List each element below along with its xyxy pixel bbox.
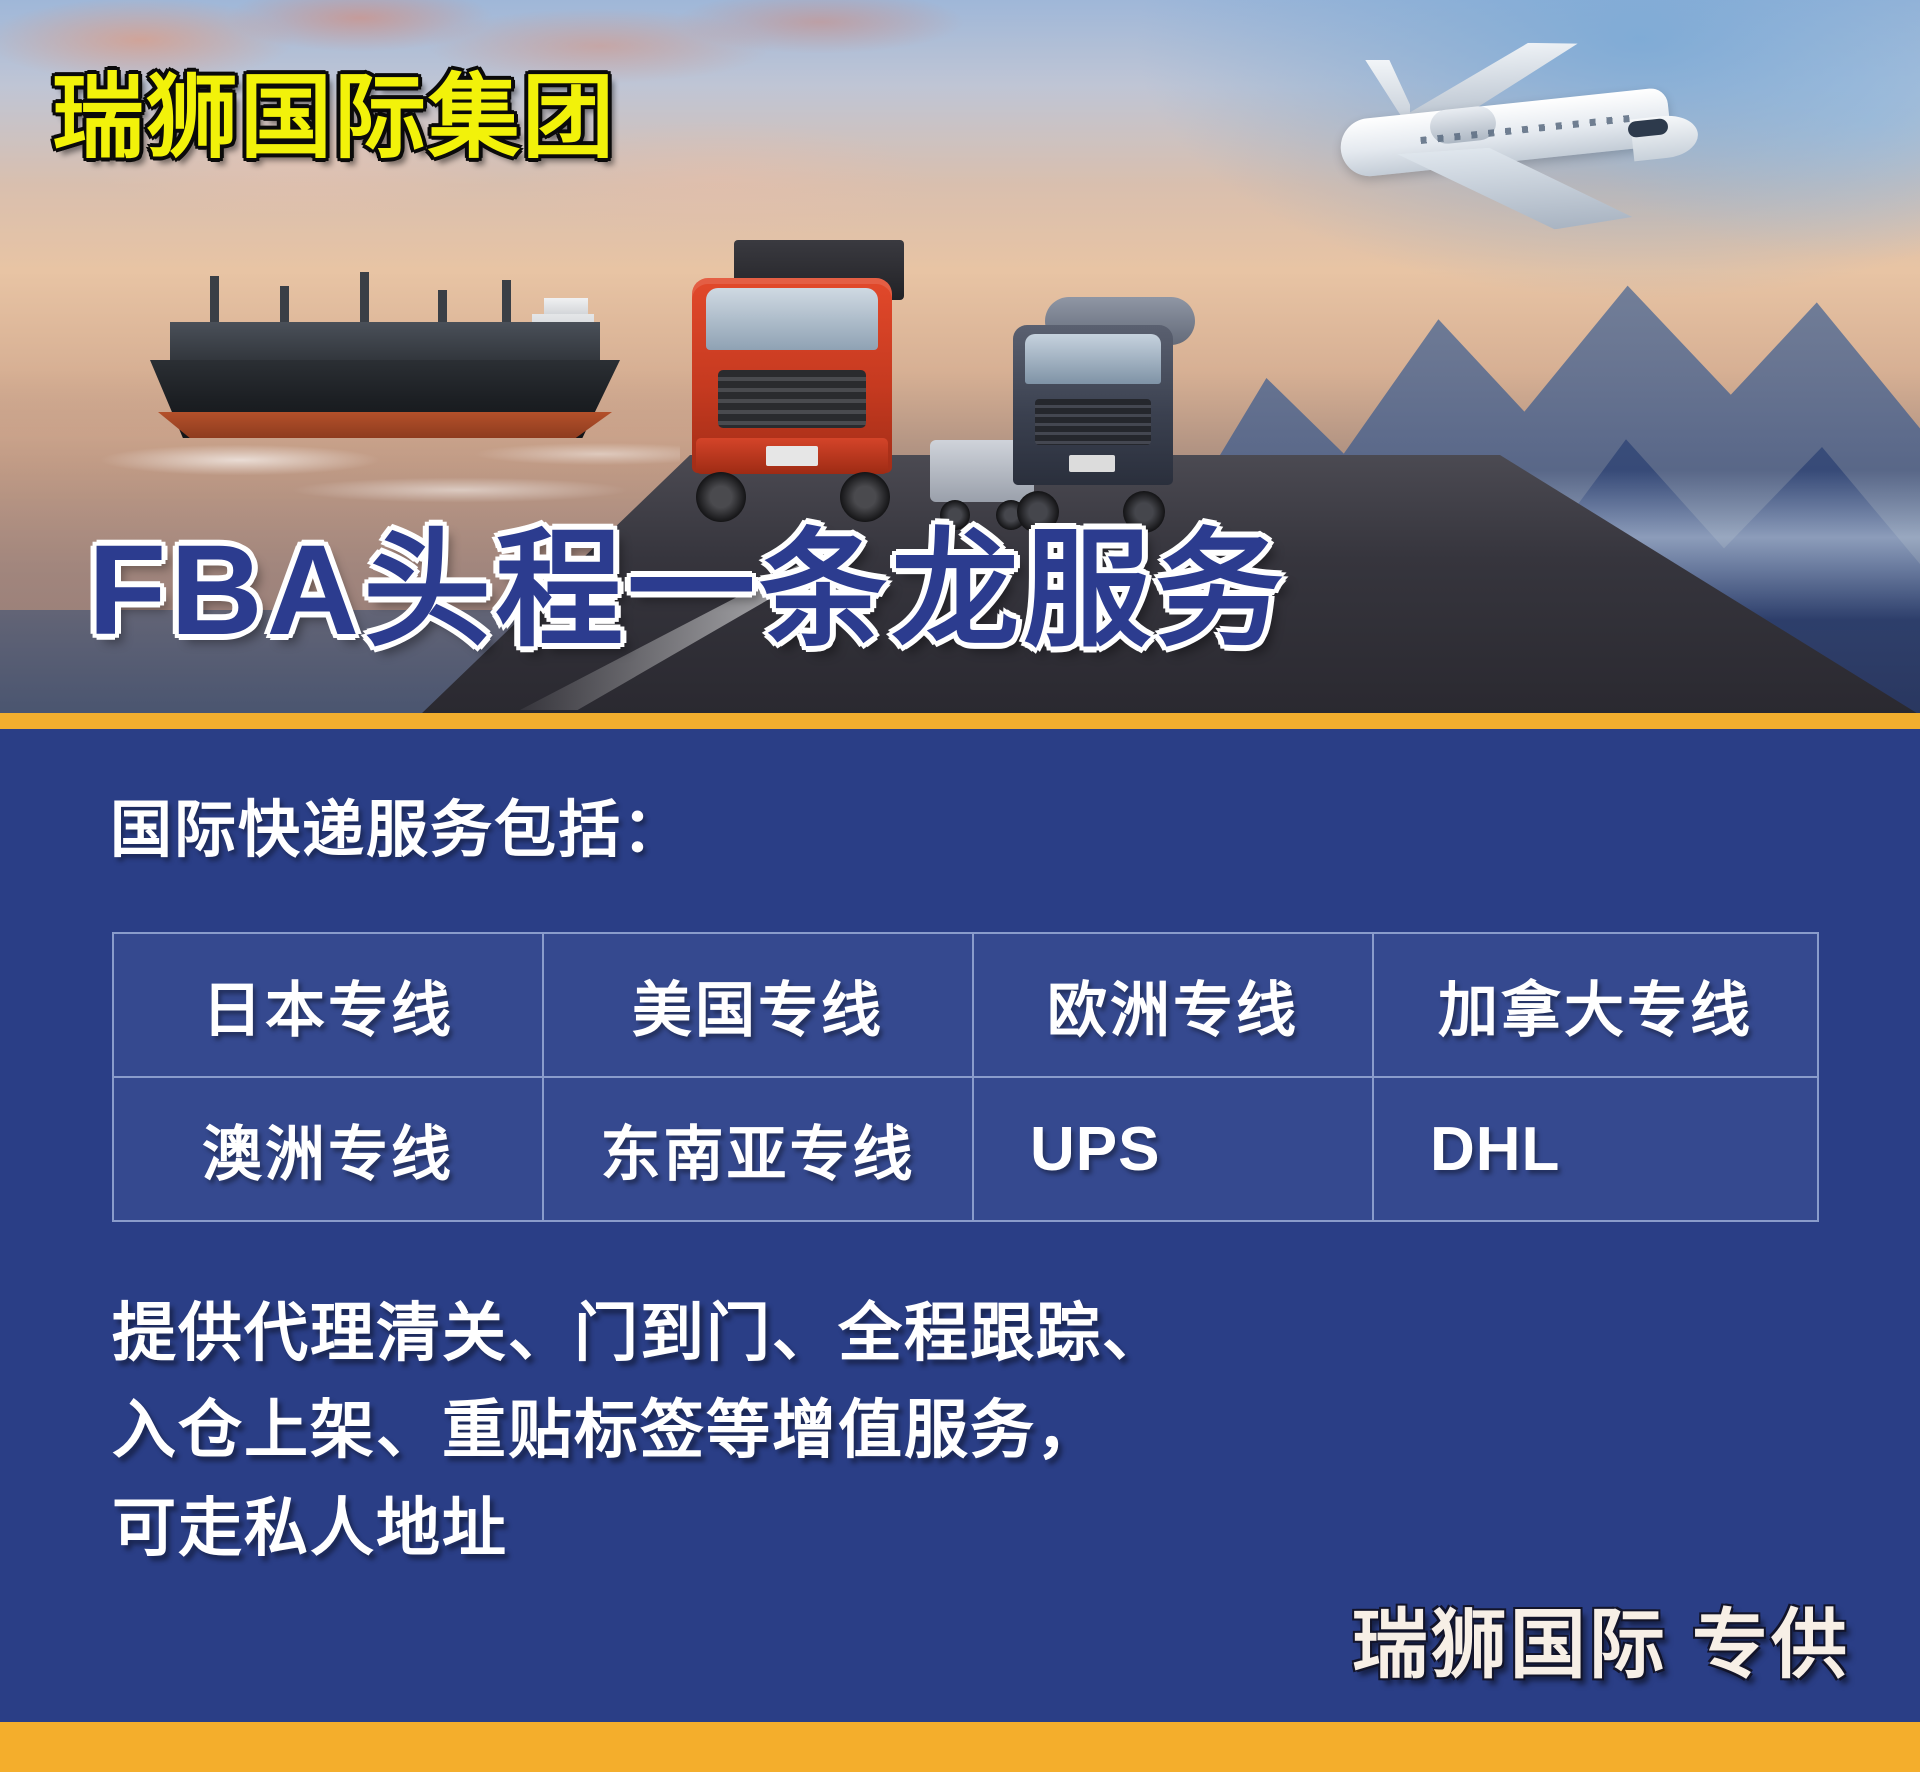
company-logo-text: 瑞狮国际集团 (52, 72, 616, 164)
dark-truck-license-plate (1069, 455, 1115, 472)
ship-deck (170, 322, 600, 364)
service-cell[interactable]: 欧洲专线 (973, 933, 1373, 1077)
feature-line: 可走私人地址 (112, 1480, 1168, 1577)
service-cell[interactable]: 澳洲专线 (113, 1077, 543, 1221)
cargo-ship-icon (150, 268, 620, 438)
red-truck-wheel (696, 472, 746, 522)
service-cell-dhl[interactable]: DHL (1373, 1077, 1818, 1221)
bottom-gold-bar (0, 1722, 1920, 1772)
red-truck-icon (680, 278, 910, 528)
gold-divider (0, 713, 1920, 729)
panel-heading: 国际快递服务包括： (110, 800, 686, 862)
service-cell[interactable]: 加拿大专线 (1373, 933, 1818, 1077)
service-cell[interactable]: 日本专线 (113, 933, 543, 1077)
table-row: 澳洲专线 东南亚专线 UPS DHL (113, 1077, 1818, 1221)
airplane-icon (1280, 30, 1700, 240)
dark-truck-grille (1035, 399, 1151, 445)
services-table: 日本专线 美国专线 欧洲专线 加拿大专线 澳洲专线 东南亚专线 UPS DHL (112, 932, 1819, 1222)
service-cell[interactable]: 美国专线 (543, 933, 973, 1077)
features-paragraph: 提供代理清关、门到门、全程跟踪、 入仓上架、重贴标签等增值服务， 可走私人地址 (112, 1285, 1168, 1577)
brand-signature: 瑞狮国际 专供 (1352, 1608, 1850, 1684)
table-row: 日本专线 美国专线 欧洲专线 加拿大专线 (113, 933, 1818, 1077)
red-truck-grille (718, 370, 866, 428)
feature-line: 入仓上架、重贴标签等增值服务， (112, 1382, 1168, 1479)
feature-line: 提供代理清关、门到门、全程跟踪、 (112, 1285, 1168, 1382)
red-truck-wheel (840, 472, 890, 522)
poster-banner: 瑞狮国际集团 FBA头程一条龙服务 国际快递服务包括： 日本专线 美国专线 欧洲… (0, 0, 1920, 1772)
ship-waterline-stripe (158, 412, 612, 438)
page-title: FBA头程一条龙服务 (88, 524, 1287, 658)
dark-truck-windshield (1025, 334, 1161, 384)
service-cell-ups[interactable]: UPS (973, 1077, 1373, 1221)
red-truck-license-plate (766, 446, 818, 466)
dark-truck-icon (1005, 325, 1185, 535)
service-cell[interactable]: 东南亚专线 (543, 1077, 973, 1221)
red-truck-windshield (706, 288, 878, 350)
